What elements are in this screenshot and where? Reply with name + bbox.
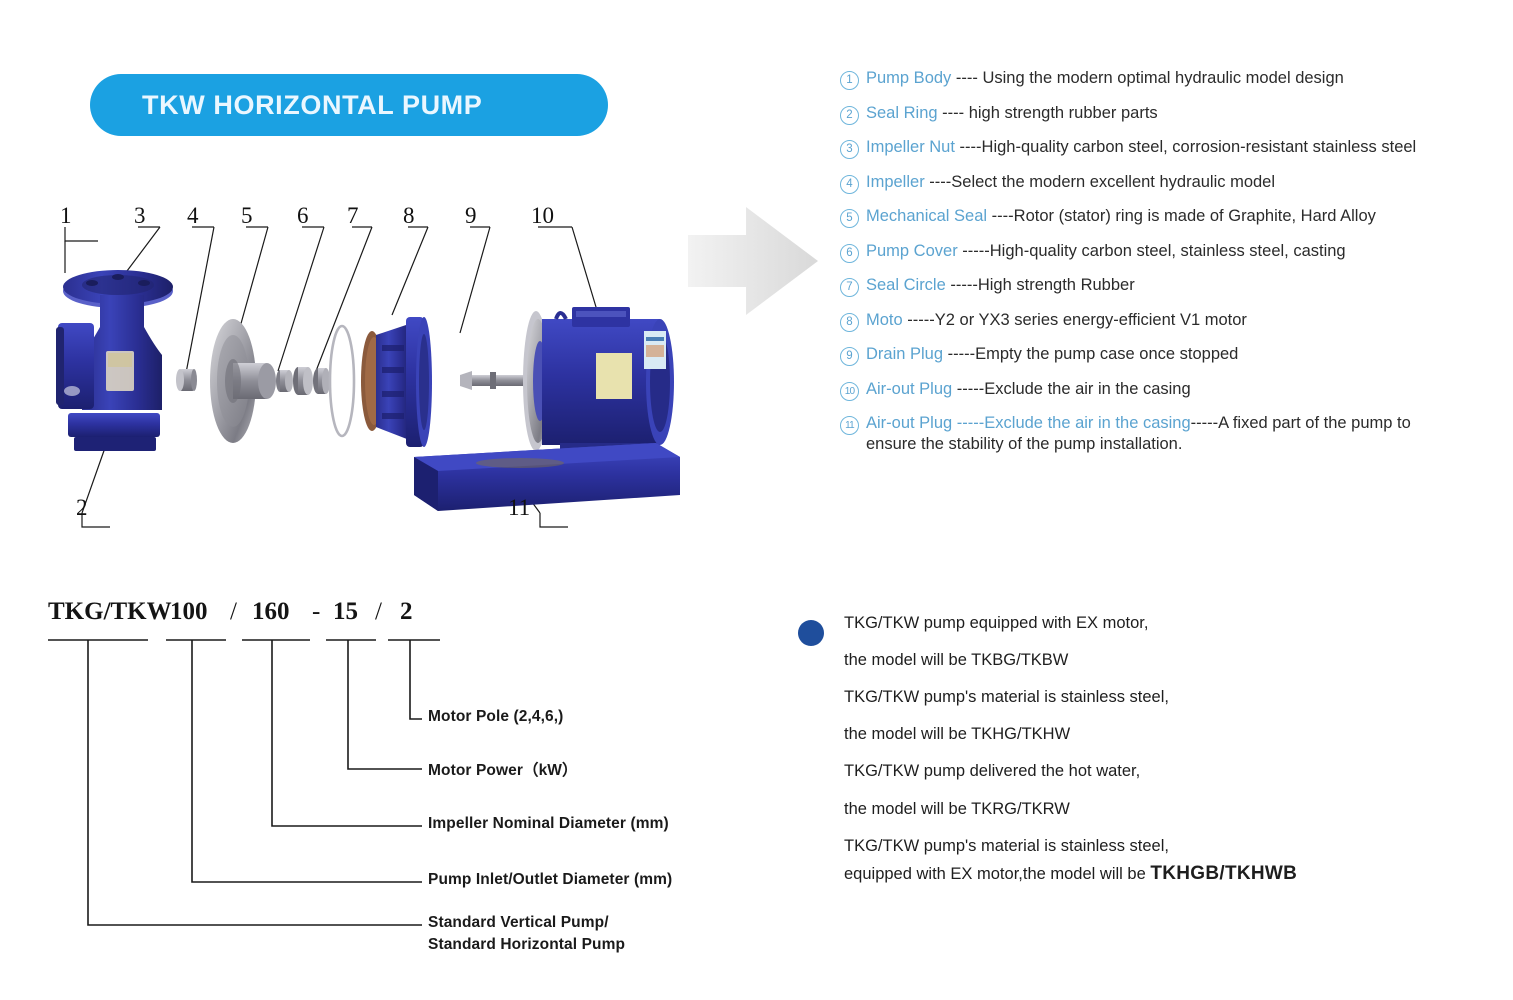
callout-number-6: 6 xyxy=(297,203,309,229)
legend-part-name-3: Impeller Nut xyxy=(866,138,955,156)
legend-text-7: Seal Circle -----High strength Rubber xyxy=(866,275,1135,296)
legend-number-circle-5: 5 xyxy=(840,209,859,228)
right-arrow-icon xyxy=(688,205,820,322)
seal-circle-part xyxy=(330,326,354,436)
legend-item-6: 6 Pump Cover -----High-quality carbon st… xyxy=(840,241,1500,263)
legend-dash-3: ---- xyxy=(955,138,982,156)
legend-item-8: 8 Moto -----Y2 or YX3 series energy-effi… xyxy=(840,310,1500,332)
page-title-pill: TKW HORIZONTAL PUMP xyxy=(90,74,608,136)
legend-dash-4: ---- xyxy=(925,173,952,191)
legend-item-1: 1 Pump Body ---- Using the modern optima… xyxy=(840,68,1500,90)
legend-number-circle-8: 8 xyxy=(840,313,859,332)
legend-desc-6: High-quality carbon steel, stainless ste… xyxy=(990,242,1346,260)
legend-dash-6: ----- xyxy=(958,242,990,260)
notes-body: TKG/TKW pump equipped with EX motor, the… xyxy=(844,612,1438,886)
legend-desc-7: High strength Rubber xyxy=(978,276,1135,294)
legend-black-desc-11: A fixed part of the pump to xyxy=(1218,414,1411,432)
model-code-bracket-lines xyxy=(30,596,730,976)
legend-dash-8: ----- xyxy=(903,311,935,329)
callout-number-7: 7 xyxy=(347,203,359,229)
legend-item-9: 9 Drain Plug -----Empty the pump case on… xyxy=(840,344,1500,366)
legend-text-6: Pump Cover -----High-quality carbon stee… xyxy=(866,241,1346,262)
note-line-7: TKG/TKW pump's material is stainless ste… xyxy=(844,835,1438,857)
legend-desc-10: Exclude the air in the casing xyxy=(984,380,1190,398)
bullet-dot-icon xyxy=(798,620,824,646)
legend-item-7: 7 Seal Circle -----High strength Rubber xyxy=(840,275,1500,297)
callout-number-2: 2 xyxy=(76,495,88,521)
note-line-8-prefix: equipped with EX motor,the model will be xyxy=(844,865,1150,883)
note-line-8: equipped with EX motor,the model will be… xyxy=(844,861,1438,886)
legend-number-circle-2: 2 xyxy=(840,106,859,125)
legend-item-2: 2 Seal Ring ---- high strength rubber pa… xyxy=(840,103,1500,125)
pump-body-part xyxy=(56,270,173,451)
model-label-motor-pole: Motor Pole (2,4,6,) xyxy=(428,708,563,726)
legend-text-5: Mechanical Seal ----Rotor (stator) ring … xyxy=(866,206,1376,227)
callout-number-3: 3 xyxy=(134,203,146,229)
legend-number-circle-3: 3 xyxy=(840,140,859,159)
legend-text-2: Seal Ring ---- high strength rubber part… xyxy=(866,103,1158,124)
legend-desc-5: Rotor (stator) ring is made of Graphite,… xyxy=(1014,207,1376,225)
legend-item-3: 3 Impeller Nut ----High-quality carbon s… xyxy=(840,137,1500,159)
legend-blue-desc-11: Exclude the air in the casing xyxy=(984,414,1190,432)
legend-number-circle-11: 11 xyxy=(840,416,859,435)
legend-text-11: Air-out Plug -----Exclude the air in the… xyxy=(866,413,1411,455)
model-code-breakdown: TKG/TKW 100 / 160 - 15 / 2 xyxy=(30,596,730,976)
legend-number-circle-1: 1 xyxy=(840,71,859,90)
exploded-pump-diagram: 1 3 4 5 6 7 8 9 10 2 11 xyxy=(20,195,720,575)
legend-text-10: Air-out Plug -----Exclude the air in the… xyxy=(866,379,1191,400)
callout-number-9: 9 xyxy=(465,203,477,229)
legend-item-4: 4 Impeller ----Select the modern excelle… xyxy=(840,172,1500,194)
legend-number-circle-10: 10 xyxy=(840,382,859,401)
legend-part-name-4: Impeller xyxy=(866,173,925,191)
note-line-5: TKG/TKW pump delivered the hot water, xyxy=(844,760,1438,782)
callout-number-4: 4 xyxy=(187,203,199,229)
callout-number-8: 8 xyxy=(403,203,415,229)
legend-desc-3: High-quality carbon steel, corrosion-res… xyxy=(982,138,1417,156)
base-plate-part xyxy=(414,443,680,511)
legend-dash-7: ----- xyxy=(946,276,978,294)
legend-part-name-6: Pump Cover xyxy=(866,242,958,260)
legend-desc-9: Empty the pump case once stopped xyxy=(975,345,1238,363)
note-line-8-model: TKHGB/TKHWB xyxy=(1150,863,1297,884)
note-line-4: the model will be TKHG/TKHW xyxy=(844,723,1438,745)
legend-part-name-10: Air-out Plug xyxy=(866,380,952,398)
legend-desc-1: Using the modern optimal hydraulic model… xyxy=(982,69,1343,87)
legend-item-10: 10 Air-out Plug -----Exclude the air in … xyxy=(840,379,1500,401)
legend-desc-8: Y2 or YX3 series energy-efficient V1 mot… xyxy=(935,311,1247,329)
pump-product-infographic: TKW HORIZONTAL PUMP xyxy=(0,0,1513,1000)
legend-part-name-5: Mechanical Seal xyxy=(866,207,987,225)
model-label-impeller-dia: Impeller Nominal Diameter (mm) xyxy=(428,815,669,833)
legend-item-11: 11 Air-out Plug -----Exclude the air in … xyxy=(840,413,1500,455)
legend-text-9: Drain Plug -----Empty the pump case once… xyxy=(866,344,1238,365)
legend-number-circle-6: 6 xyxy=(840,244,859,263)
legend-dash-2: ---- xyxy=(938,104,969,122)
note-line-2: the model will be TKBG/TKBW xyxy=(844,649,1438,671)
legend-dash-9: ----- xyxy=(943,345,975,363)
callout-number-5: 5 xyxy=(241,203,253,229)
legend-part-name-7: Seal Circle xyxy=(866,276,946,294)
parts-legend-list: 1 Pump Body ---- Using the modern optima… xyxy=(840,68,1500,468)
motor-part xyxy=(460,307,674,457)
legend-desc-2: high strength rubber parts xyxy=(969,104,1158,122)
legend-dash-11: ----- xyxy=(952,414,984,432)
note-line-1: TKG/TKW pump equipped with EX motor, xyxy=(844,612,1438,634)
callout-number-1: 1 xyxy=(60,203,72,229)
model-label-standard-vertical: Standard Vertical Pump/ xyxy=(428,914,609,932)
legend-number-circle-4: 4 xyxy=(840,175,859,194)
legend-number-circle-9: 9 xyxy=(840,347,859,366)
legend-dash-10: ----- xyxy=(952,380,984,398)
legend-desc-4: Select the modern excellent hydraulic mo… xyxy=(951,173,1275,191)
legend-part-name-8: Moto xyxy=(866,311,903,329)
legend-part-name-11: Air-out Plug xyxy=(866,414,952,432)
legend-number-circle-7: 7 xyxy=(840,278,859,297)
note-line-6: the model will be TKRG/TKRW xyxy=(844,798,1438,820)
pump-illustration xyxy=(20,195,720,575)
page-title: TKW HORIZONTAL PUMP xyxy=(142,90,482,121)
mechanical-seal-part xyxy=(276,367,330,395)
legend-part-name-1: Pump Body xyxy=(866,69,951,87)
legend-part-name-2: Seal Ring xyxy=(866,104,938,122)
legend-desc-11-line2: ensure the stability of the pump install… xyxy=(866,435,1182,453)
callout-number-11: 11 xyxy=(508,495,530,521)
model-label-inlet-outlet: Pump Inlet/Outlet Diameter (mm) xyxy=(428,871,672,889)
pump-cover-part xyxy=(361,317,432,447)
note-line-3: TKG/TKW pump's material is stainless ste… xyxy=(844,686,1438,708)
legend-dash-1: ---- xyxy=(951,69,982,87)
callout-number-10: 10 xyxy=(531,203,554,229)
legend-text-8: Moto -----Y2 or YX3 series energy-effici… xyxy=(866,310,1247,331)
impeller-nut-part xyxy=(176,369,197,391)
legend-item-5: 5 Mechanical Seal ----Rotor (stator) rin… xyxy=(840,206,1500,228)
impeller-part xyxy=(210,319,276,443)
legend-dash2-11: ----- xyxy=(1191,414,1218,432)
legend-text-3: Impeller Nut ----High-quality carbon ste… xyxy=(866,137,1416,158)
legend-text-1: Pump Body ---- Using the modern optimal … xyxy=(866,68,1344,89)
legend-text-4: Impeller ----Select the modern excellent… xyxy=(866,172,1275,193)
model-naming-notes: TKG/TKW pump equipped with EX motor, the… xyxy=(798,612,1438,901)
legend-dash-5: ---- xyxy=(987,207,1014,225)
model-label-motor-power: Motor Power（kW） xyxy=(428,758,578,780)
model-label-standard-horizontal: Standard Horizontal Pump xyxy=(428,936,625,954)
legend-part-name-9: Drain Plug xyxy=(866,345,943,363)
